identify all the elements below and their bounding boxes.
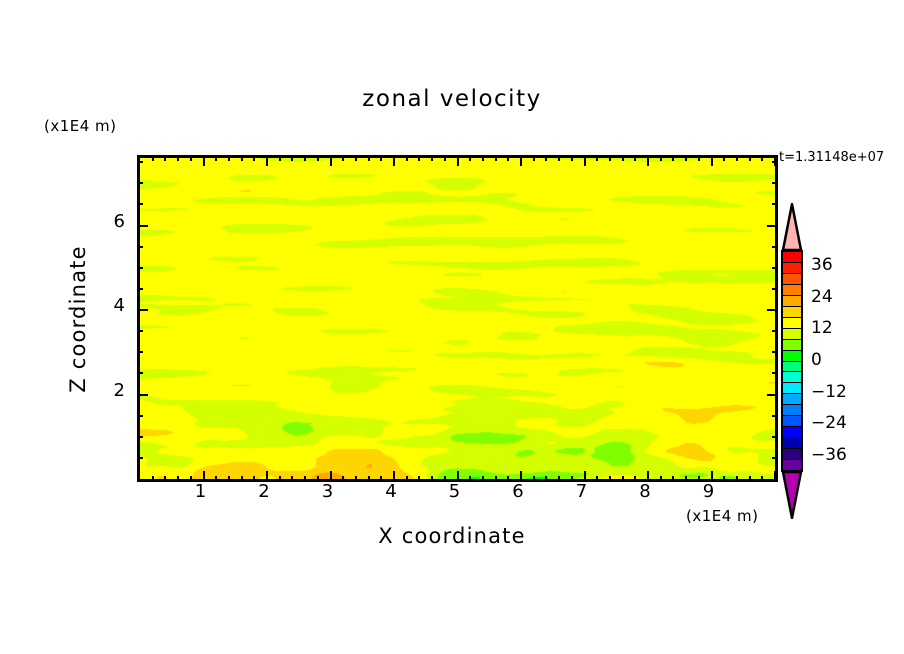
x-tick-bottom <box>609 476 611 482</box>
x-tick-top <box>609 155 611 161</box>
x-tick-top <box>660 155 662 161</box>
colorbar-label: 36 <box>811 255 833 275</box>
page-title: zonal velocity <box>0 86 904 112</box>
x-tick-top <box>190 155 192 161</box>
x-tick-label: 7 <box>567 481 597 502</box>
x-tick-top <box>266 155 268 166</box>
x-tick-top <box>482 155 484 161</box>
colorbar-segments <box>781 250 803 472</box>
colorbar-segment <box>783 285 801 296</box>
x-tick-bottom <box>228 476 230 482</box>
x-tick-label: 4 <box>376 481 406 502</box>
x-tick-top <box>368 155 370 161</box>
colorbar-segment <box>783 372 801 383</box>
x-tick-bottom <box>545 476 547 482</box>
colorbar-label: 0 <box>811 350 822 370</box>
colorbar: 3624120−12−24−36 <box>779 203 899 521</box>
x-tick-label: 3 <box>313 481 343 502</box>
x-tick-top <box>418 155 420 161</box>
x-tick-top <box>622 155 624 161</box>
y-tick-left <box>137 394 148 396</box>
x-tick-top <box>457 155 459 166</box>
x-tick-top <box>520 155 522 166</box>
y-tick-left <box>137 182 143 184</box>
colorbar-segment <box>783 252 801 263</box>
colorbar-segment <box>783 340 801 351</box>
x-tick-top <box>444 155 446 161</box>
x-tick-top <box>711 155 713 166</box>
x-tick-top <box>317 155 319 161</box>
x-tick-bottom <box>761 476 763 482</box>
x-tick-top <box>203 155 205 166</box>
y-tick-label: 2 <box>99 380 125 401</box>
colorbar-segment <box>783 263 801 274</box>
x-tick-bottom <box>558 476 560 482</box>
y-tick-left <box>137 457 143 459</box>
x-tick-bottom <box>482 476 484 482</box>
x-tick-top <box>152 155 154 161</box>
x-tick-top <box>406 155 408 161</box>
x-tick-top <box>393 155 395 166</box>
x-tick-bottom <box>736 476 738 482</box>
x-tick-bottom <box>164 476 166 482</box>
y-tick-left <box>137 351 143 353</box>
contour-plot-area <box>137 155 778 482</box>
y-tick-right <box>767 394 778 396</box>
x-tick-label: 9 <box>694 481 724 502</box>
y-axis-unit-label: (x1E4 m) <box>44 117 117 135</box>
colorbar-segment <box>783 329 801 340</box>
colorbar-segment <box>783 362 801 373</box>
x-tick-top <box>342 155 344 161</box>
x-tick-bottom <box>749 476 751 482</box>
colorbar-segment <box>783 296 801 307</box>
x-tick-bottom <box>152 476 154 482</box>
x-tick-top <box>241 155 243 161</box>
colorbar-segment <box>783 427 801 438</box>
x-tick-top <box>291 155 293 161</box>
y-tick-right <box>772 288 778 290</box>
x-tick-label: 5 <box>440 481 470 502</box>
x-tick-bottom <box>368 476 370 482</box>
x-tick-top <box>571 155 573 161</box>
colorbar-segment <box>783 307 801 318</box>
x-tick-label: 8 <box>630 481 660 502</box>
x-axis-unit-label: (x1E4 m) <box>686 507 759 525</box>
x-tick-top <box>469 155 471 161</box>
x-tick-top <box>634 155 636 161</box>
x-tick-top <box>672 155 674 161</box>
x-tick-bottom <box>622 476 624 482</box>
y-tick-right <box>772 436 778 438</box>
x-tick-bottom <box>672 476 674 482</box>
x-tick-top <box>685 155 687 161</box>
y-tick-right <box>772 246 778 248</box>
y-tick-right <box>772 372 778 374</box>
y-tick-left <box>137 246 143 248</box>
x-tick-top <box>215 155 217 161</box>
x-tick-top <box>596 155 598 161</box>
colorbar-segment <box>783 405 801 416</box>
x-tick-label: 2 <box>249 481 279 502</box>
x-tick-top <box>698 155 700 161</box>
y-tick-right <box>772 203 778 205</box>
x-tick-bottom <box>241 476 243 482</box>
x-tick-top <box>304 155 306 161</box>
y-tick-right <box>767 225 778 227</box>
x-tick-bottom <box>418 476 420 482</box>
colorbar-segment <box>783 383 801 394</box>
x-tick-bottom <box>774 471 776 482</box>
colorbar-segment <box>783 394 801 405</box>
y-tick-left <box>137 203 143 205</box>
x-tick-top <box>380 155 382 161</box>
x-tick-bottom <box>495 476 497 482</box>
x-tick-top <box>558 155 560 161</box>
colorbar-segment <box>783 460 801 470</box>
y-tick-label: 4 <box>99 295 125 316</box>
x-tick-top <box>507 155 509 161</box>
colorbar-under-arrow-icon <box>781 471 803 519</box>
colorbar-label: 24 <box>811 287 833 307</box>
colorbar-label: −36 <box>811 445 847 465</box>
y-tick-right <box>772 182 778 184</box>
y-tick-right <box>772 351 778 353</box>
x-tick-top <box>584 155 586 166</box>
y-tick-left <box>137 415 143 417</box>
x-tick-top <box>761 155 763 161</box>
colorbar-segment <box>783 318 801 329</box>
x-tick-top <box>723 155 725 161</box>
x-tick-top <box>431 155 433 161</box>
x-tick-bottom <box>304 476 306 482</box>
colorbar-segment <box>783 438 801 449</box>
x-tick-top <box>647 155 649 166</box>
y-tick-left <box>137 330 143 332</box>
x-tick-top <box>495 155 497 161</box>
x-tick-bottom <box>291 476 293 482</box>
y-tick-left <box>137 267 143 269</box>
colorbar-segment <box>783 449 801 460</box>
x-tick-top <box>253 155 255 161</box>
colorbar-segment <box>783 416 801 427</box>
time-annotation: t=1.31148e+07 <box>779 150 884 165</box>
y-tick-right <box>772 267 778 269</box>
y-tick-left <box>137 309 148 311</box>
x-tick-top <box>228 155 230 161</box>
y-axis-title: Z coordinate <box>66 219 90 419</box>
y-tick-left <box>137 372 143 374</box>
x-tick-label: 1 <box>186 481 216 502</box>
y-tick-right <box>772 457 778 459</box>
x-axis-title: X coordinate <box>0 524 904 548</box>
y-tick-right <box>772 330 778 332</box>
y-tick-left <box>137 436 143 438</box>
x-tick-top <box>330 155 332 166</box>
x-tick-top <box>736 155 738 161</box>
x-tick-bottom <box>431 476 433 482</box>
colorbar-segment <box>783 274 801 285</box>
x-tick-top <box>533 155 535 161</box>
x-tick-top <box>164 155 166 161</box>
colorbar-over-arrow-icon <box>781 203 803 251</box>
x-tick-top <box>749 155 751 161</box>
x-tick-bottom <box>355 476 357 482</box>
x-tick-bottom <box>177 476 179 482</box>
y-tick-left <box>137 161 143 163</box>
x-tick-top <box>355 155 357 161</box>
colorbar-label: −12 <box>811 382 847 402</box>
y-tick-right <box>767 309 778 311</box>
x-tick-top <box>279 155 281 161</box>
x-tick-top <box>177 155 179 161</box>
colorbar-segment <box>783 351 801 362</box>
velocity-field-canvas <box>140 158 775 479</box>
x-tick-top <box>545 155 547 161</box>
y-tick-left <box>137 288 143 290</box>
x-tick-bottom <box>685 476 687 482</box>
x-tick-label: 6 <box>503 481 533 502</box>
colorbar-label: 12 <box>811 318 833 338</box>
colorbar-label: −24 <box>811 413 847 433</box>
y-tick-right <box>772 415 778 417</box>
y-tick-label: 6 <box>99 211 125 232</box>
y-tick-left <box>137 225 148 227</box>
y-tick-right <box>772 161 778 163</box>
